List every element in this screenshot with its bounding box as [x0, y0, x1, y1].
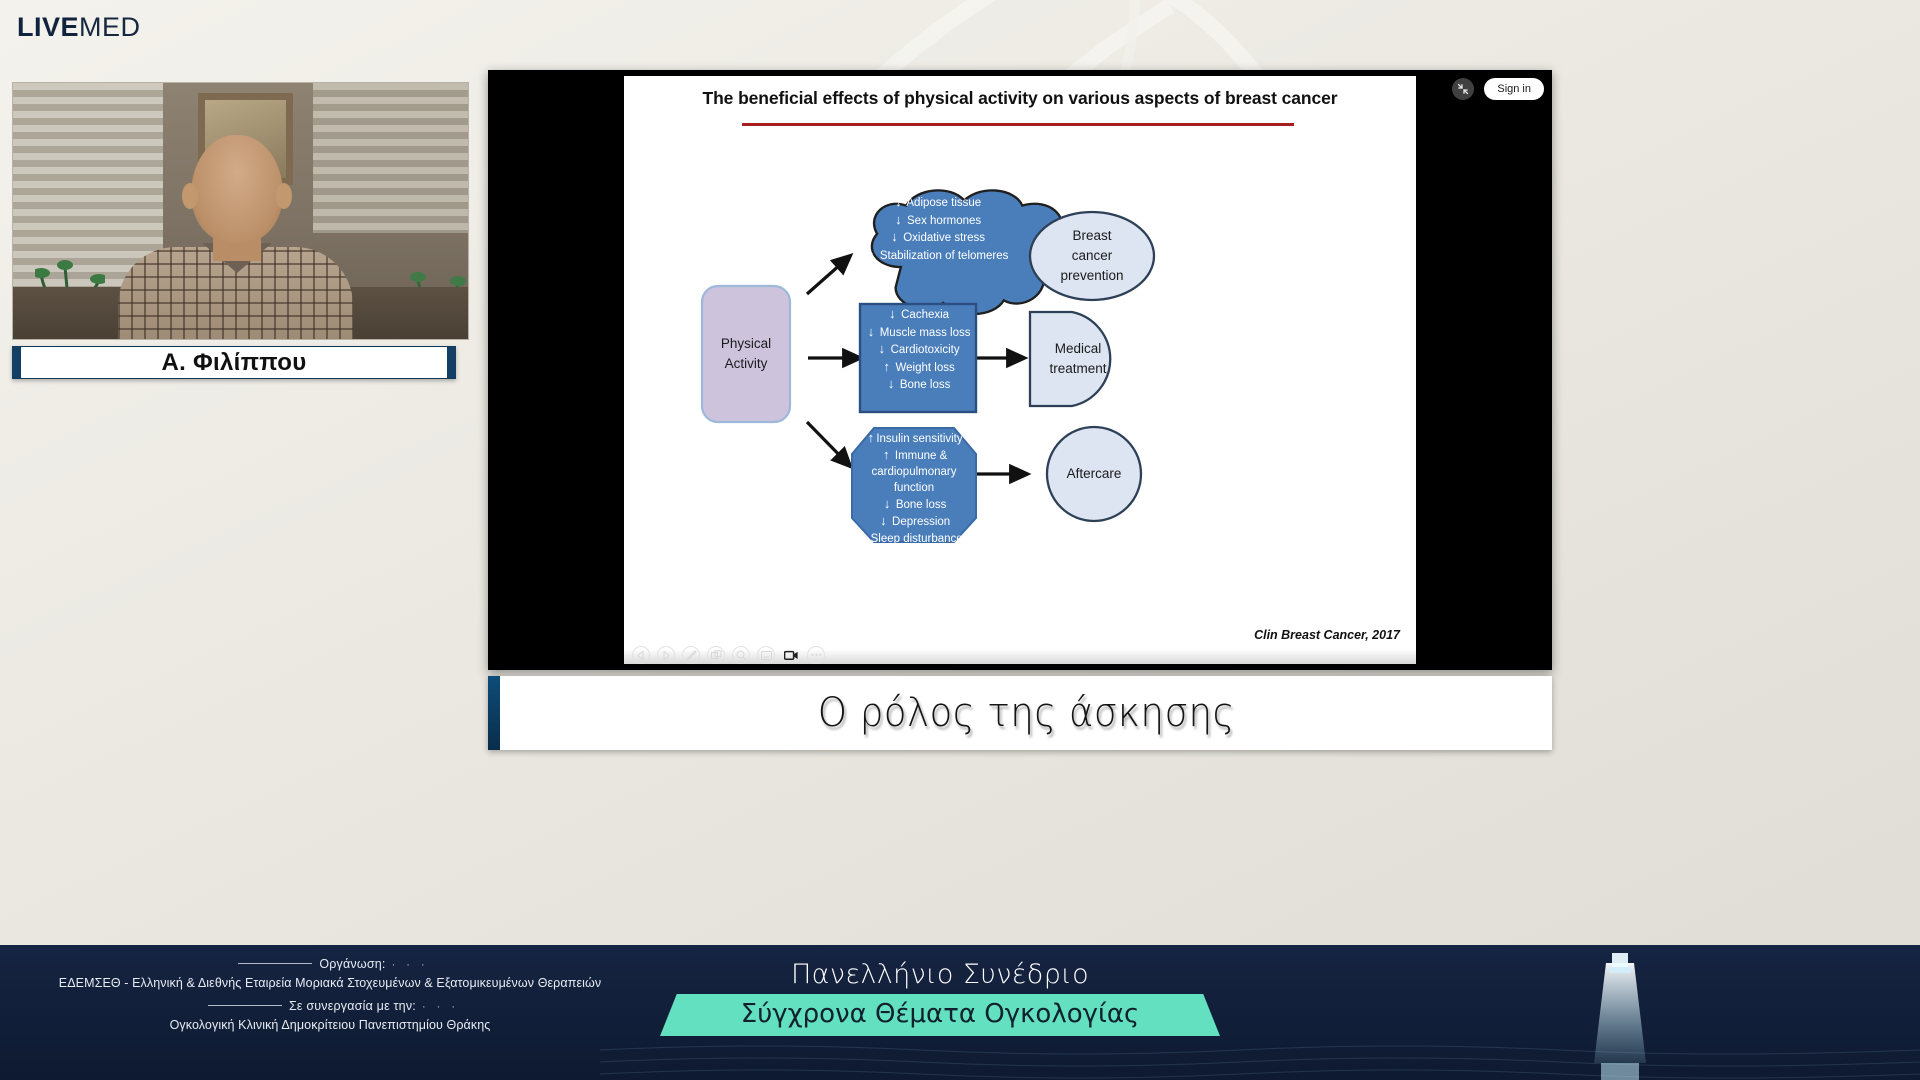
- slide-canvas: The beneficial effects of physical activ…: [624, 76, 1416, 664]
- speaker-name-plate: Α. Φιλίππου: [12, 346, 456, 379]
- more-options-icon[interactable]: [807, 646, 825, 664]
- slide-diagram: [624, 136, 1416, 656]
- speaker-panel: Α. Φιλίππου: [12, 82, 469, 379]
- partner-heading: Σε συνεργασία με την:· · ·: [0, 999, 660, 1013]
- conference-branding: Πανελλήνιο Συνέδριο Σύγχρονα Θέματα Ογκο…: [660, 959, 1220, 1036]
- video-camera-icon[interactable]: [782, 646, 800, 664]
- conference-line-2: Σύγχρονα Θέματα Ογκολογίας: [660, 994, 1220, 1036]
- footer-credits: Οργάνωση:· · · ΕΔΕΜΣΕΘ - Ελληνική & Διεθ…: [0, 957, 660, 1041]
- speaker-ear-right: [276, 183, 292, 209]
- pen-icon[interactable]: [682, 646, 700, 664]
- magnifier-icon[interactable]: [732, 646, 750, 664]
- livemed-logo: LIVEMED: [17, 14, 141, 41]
- caption-icon[interactable]: [757, 646, 775, 664]
- partner-name: Ογκολογική Κλινική Δημοκρίτειου Πανεπιστ…: [0, 1018, 660, 1032]
- organizer-name: ΕΔΕΜΣΕΘ - Ελληνική & Διεθνής Εταιρεία Μο…: [0, 976, 660, 990]
- logo-light-part: MED: [79, 12, 141, 42]
- lighthouse-icon: [1560, 945, 1680, 1080]
- slide-title: The beneficial effects of physical activ…: [624, 88, 1416, 109]
- conference-line-1: Πανελλήνιο Συνέδριο: [660, 959, 1220, 990]
- sign-in-button[interactable]: Sign in: [1484, 78, 1544, 100]
- partner-label: Σε συνεργασία με την:: [289, 999, 416, 1013]
- collapse-arrows-icon[interactable]: [1452, 78, 1474, 100]
- slide-overview-icon[interactable]: [707, 646, 725, 664]
- speaker-figure: [118, 135, 353, 340]
- player-top-controls: Sign in: [1452, 78, 1544, 100]
- sea-decoration: [600, 1040, 1920, 1080]
- decorative-dots: · · ·: [422, 1001, 459, 1013]
- logo-bold-part: LIVE: [17, 12, 79, 42]
- organizer-heading: Οργάνωση:· · ·: [0, 957, 660, 971]
- session-title-banner: Ο ρόλος της άσκησης: [488, 676, 1552, 750]
- decorative-dots: · · ·: [392, 959, 429, 971]
- decorative-rule: [238, 963, 312, 964]
- organizer-label: Οργάνωση:: [319, 957, 385, 971]
- previous-slide-button[interactable]: [632, 646, 650, 664]
- presentation-player[interactable]: Sign in The beneficial effects of physic…: [488, 70, 1552, 670]
- speaker-video-feed[interactable]: [12, 82, 469, 340]
- presenter-toolbar: [632, 646, 825, 664]
- slide-title-underline: [742, 123, 1294, 126]
- speaker-head: [191, 135, 283, 243]
- session-title: Ο ρόλος της άσκησης: [817, 690, 1234, 736]
- decorative-rule: [208, 1005, 282, 1006]
- footer-bar: Οργάνωση:· · · ΕΔΕΜΣΕΘ - Ελληνική & Διεθ…: [0, 945, 1920, 1080]
- slide-citation: Clin Breast Cancer, 2017: [1254, 628, 1400, 642]
- speaker-ear-left: [182, 183, 198, 209]
- next-slide-button[interactable]: [657, 646, 675, 664]
- speaker-name-label: Α. Φιλίππου: [161, 349, 306, 377]
